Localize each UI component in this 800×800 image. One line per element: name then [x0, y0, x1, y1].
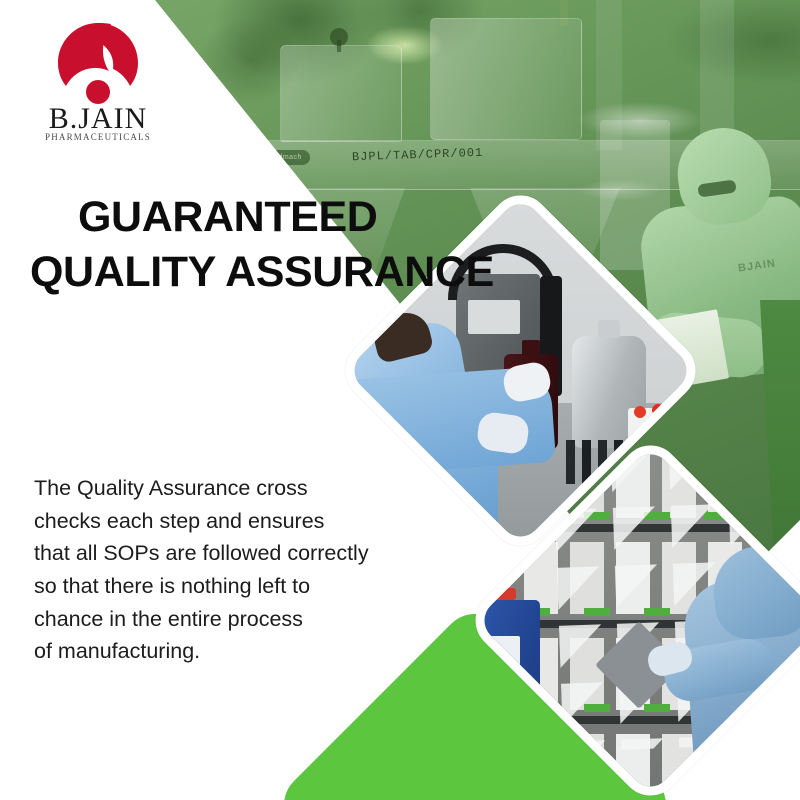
body-line: that all SOPs are followed correctly	[34, 537, 434, 570]
body-line: so that there is nothing left to	[34, 570, 434, 603]
body-line: of manufacturing.	[34, 635, 434, 668]
headline-line-2: QUALITY ASSURANCE	[30, 245, 470, 300]
lab-metal-jug	[572, 336, 646, 448]
page-title: GUARANTEED QUALITY ASSURANCE	[30, 190, 470, 300]
body-paragraph: The Quality Assurance cross checks each …	[34, 472, 434, 668]
brand-logo-text: B.JAIN PHARMACEUTICALS	[38, 104, 158, 142]
poster-canvas: admach BJPL/TAB/CPR/001 BJAIN	[0, 0, 800, 800]
bjain-swoosh-logo-icon	[56, 22, 140, 106]
headline-line-1: GUARANTEED	[30, 190, 470, 245]
body-line: chance in the entire process	[34, 603, 434, 636]
body-line: The Quality Assurance cross	[34, 472, 434, 505]
photo-tile-warehouse-image	[518, 488, 783, 753]
machine-hopper-left	[280, 45, 402, 142]
brand-tagline: PHARMACEUTICALS	[38, 132, 158, 142]
machine-hopper-right	[430, 18, 582, 140]
brand-logo[interactable]: B.JAIN PHARMACEUTICALS	[38, 22, 158, 142]
machine-knob-stem	[337, 40, 341, 52]
brand-name: B.JAIN	[38, 104, 158, 134]
body-line: checks each step and ensures	[34, 505, 434, 538]
